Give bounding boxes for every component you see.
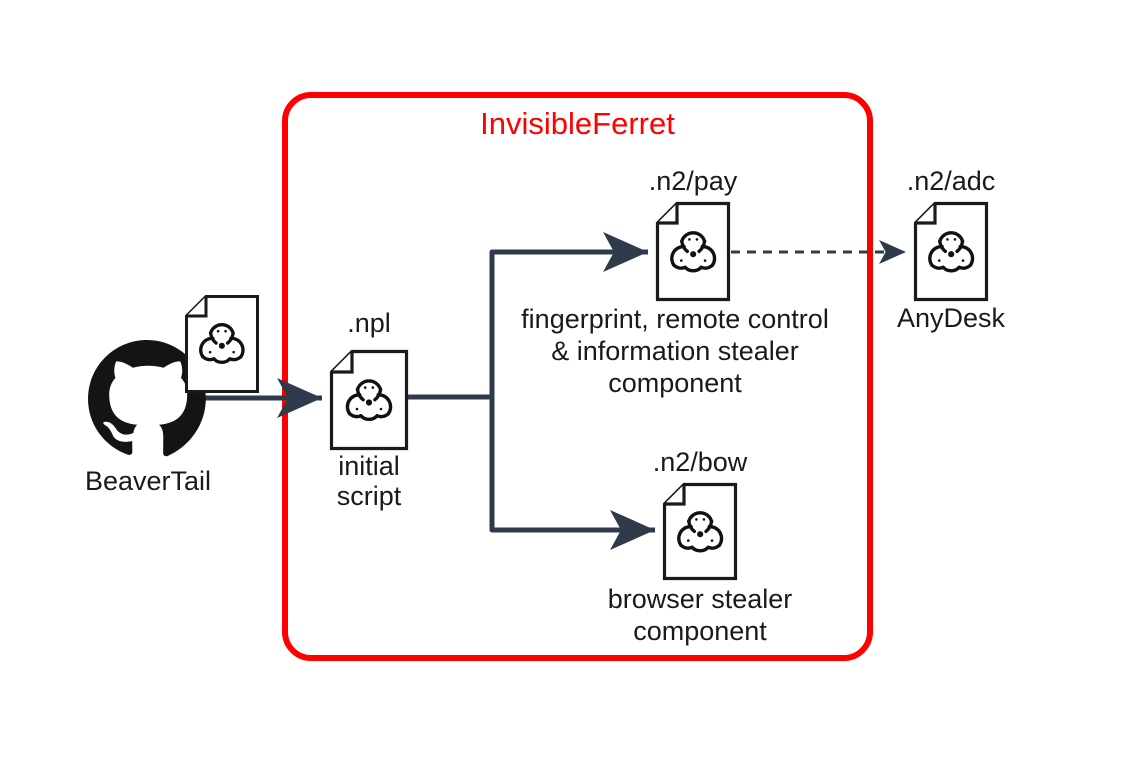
group-title-text: InvisibleFerret [480,106,675,141]
n2bow-caption-line1: browser stealer [570,583,830,615]
n2adc-caption: AnyDesk [861,303,1041,334]
node-n2pay [658,204,729,300]
invisibleferret-group-title: InvisibleFerret [285,107,870,141]
node-n2adc [916,204,987,300]
npl-caption-line2: script [299,481,439,512]
n2pay-caption-line2: & information stealer [495,335,855,367]
beavertail-caption: BeaverTail [28,466,268,497]
n2bow-top-label: .n2/bow [620,447,780,478]
n2adc-top-label: .n2/adc [871,166,1031,197]
n2pay-caption-line3: component [495,367,855,399]
diagram-canvas: InvisibleFerret BeaverTail .npl initial … [0,0,1140,760]
node-npl [332,352,407,449]
n2bow-caption-line2: component [570,615,830,647]
npl-caption-line1: initial [299,451,439,482]
n2pay-caption-line1: fingerprint, remote control [495,303,855,335]
npl-top-label: .npl [299,308,439,339]
node-n2bow [665,485,736,579]
node-beavertail-payload-doc [187,297,258,392]
n2pay-top-label: .n2/pay [613,166,773,197]
